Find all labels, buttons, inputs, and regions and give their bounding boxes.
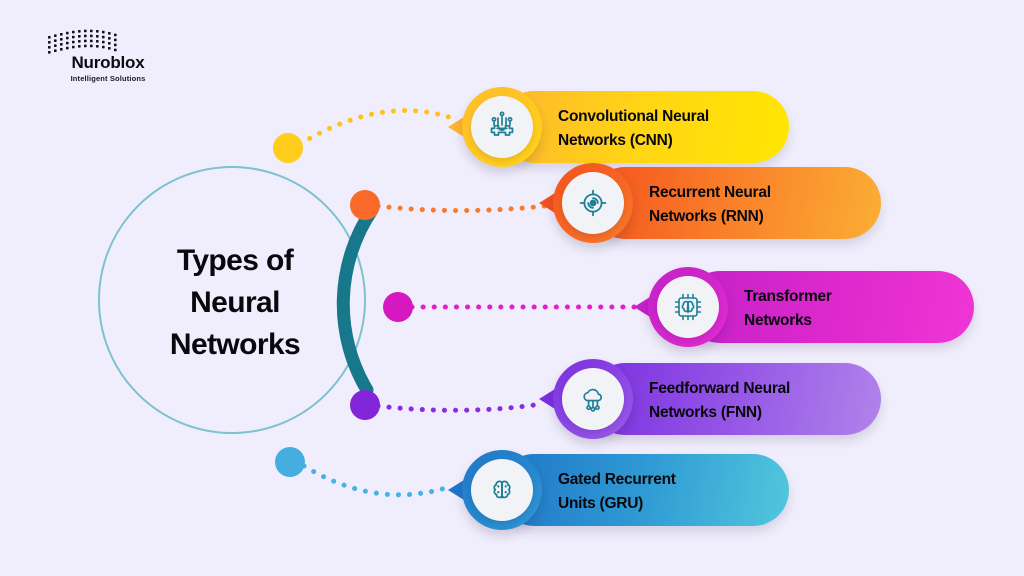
item-gru-icon-disc xyxy=(462,450,542,530)
item-gru-label-line-2: Units (GRU) xyxy=(558,492,676,516)
connector-cnn xyxy=(300,111,452,144)
item-transformer-icon-disc xyxy=(648,267,728,347)
item-transformer-label-line-1: Transformer xyxy=(744,285,832,309)
page-title-line-3: Networks xyxy=(120,324,350,366)
node-transformer xyxy=(383,292,413,322)
item-fnn-icon-disc xyxy=(553,359,633,439)
gear-circuit-icon xyxy=(471,96,533,158)
node-fnn xyxy=(350,390,380,420)
node-gru xyxy=(275,447,305,477)
item-gru-label: Gated Recurrent Units (GRU) xyxy=(558,468,676,516)
node-cnn xyxy=(273,133,303,163)
item-cnn-label-line-2: Networks (CNN) xyxy=(558,129,709,153)
item-transformer-label-line-2: Networks xyxy=(744,309,832,333)
infographic-canvas: Nuroblox Intelligent Solutions Types of … xyxy=(0,0,1024,576)
item-cnn-label: Convolutional Neural Networks (CNN) xyxy=(558,105,709,153)
item-rnn-icon-disc xyxy=(553,163,633,243)
page-title-line-1: Types of xyxy=(120,240,350,282)
connector-fnn xyxy=(378,404,541,410)
connector-gru xyxy=(304,466,452,495)
node-rnn xyxy=(350,190,380,220)
item-gru-label-line-1: Gated Recurrent xyxy=(558,468,676,492)
page-title-line-2: Neural xyxy=(120,282,350,324)
item-cnn-icon-disc xyxy=(462,87,542,167)
item-rnn-label-line-1: Recurrent Neural xyxy=(649,181,771,205)
cloud-network-icon xyxy=(562,368,624,430)
brain-icon xyxy=(471,459,533,521)
item-rnn-label: Recurrent Neural Networks (RNN) xyxy=(649,181,771,229)
item-transformer-label: Transformer Networks xyxy=(744,285,832,333)
radial-target-icon xyxy=(562,172,624,234)
item-fnn-label-line-1: Feedforward Neural xyxy=(649,377,790,401)
page-title: Types of Neural Networks xyxy=(120,240,350,366)
item-fnn-label: Feedforward Neural Networks (FNN) xyxy=(649,377,790,425)
brain-chip-icon xyxy=(657,276,719,338)
connector-rnn xyxy=(378,206,545,211)
item-fnn-label-line-2: Networks (FNN) xyxy=(649,401,790,425)
item-rnn-label-line-2: Networks (RNN) xyxy=(649,205,771,229)
item-cnn-label-line-1: Convolutional Neural xyxy=(558,105,709,129)
